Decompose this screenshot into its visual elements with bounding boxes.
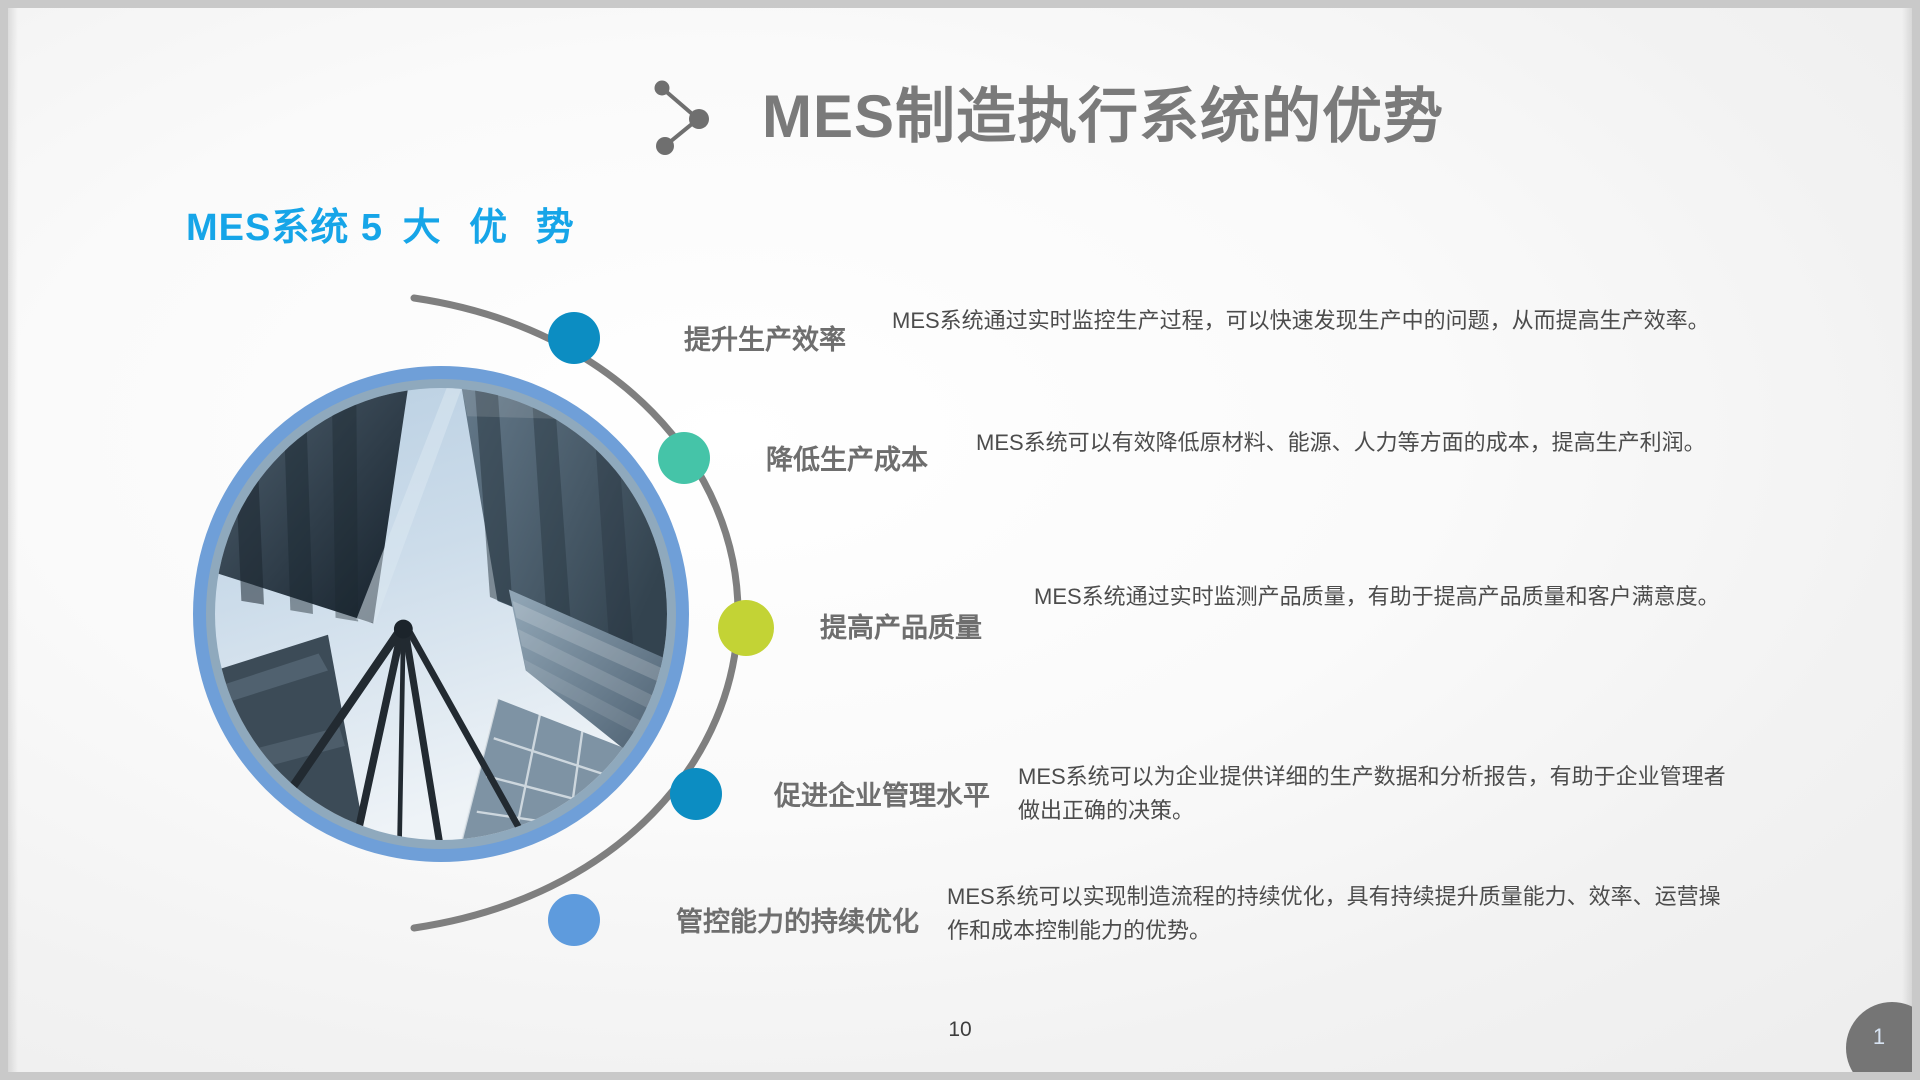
network-nodes-icon <box>648 74 720 160</box>
advantage-row[interactable]: 提高产品质量 MES系统通过实时监测产品质量，有助于提高产品质量和客户满意度。 <box>718 580 1754 656</box>
advantage-description: MES系统通过实时监测产品质量，有助于提高产品质量和客户满意度。 <box>1034 580 1754 614</box>
advantage-label: 促进企业管理水平 <box>774 774 990 813</box>
page-edge-shadow-left <box>8 8 18 1072</box>
page-title: MES制造执行系统的优势 <box>762 87 1444 147</box>
advantage-row[interactable]: 降低生产成本 MES系统可以有效降低原材料、能源、人力等方面的成本，提高生产利润… <box>658 426 1736 484</box>
advantage-description: MES系统可以为企业提供详细的生产数据和分析报告，有助于企业管理者做出正确的决策… <box>1018 760 1738 828</box>
advantage-row[interactable]: 提升生产效率 MES系统通过实时监控生产过程，可以快速发现生产中的问题，从而提高… <box>548 304 1722 364</box>
page-edge-shadow-right <box>1902 8 1912 1072</box>
advantage-dot <box>718 600 774 656</box>
advantage-dot <box>548 894 600 946</box>
advantage-label: 降低生产成本 <box>766 438 928 477</box>
advantage-description: MES系统可以实现制造流程的持续优化，具有持续提升质量能力、效率、运营操作和成本… <box>947 880 1737 948</box>
section-subtitle: MES系统 5 大 优 势 <box>186 196 583 251</box>
advantage-label: 管控能力的持续优化 <box>676 900 919 939</box>
advantage-label: 提升生产效率 <box>684 318 846 357</box>
advantage-dot <box>658 432 710 484</box>
advantage-description: MES系统可以有效降低原材料、能源、人力等方面的成本，提高生产利润。 <box>976 426 1736 460</box>
advantage-row[interactable]: 管控能力的持续优化 MES系统可以实现制造流程的持续优化，具有持续提升质量能力、… <box>548 880 1737 948</box>
subtitle-spaced: 大 优 势 <box>383 207 583 249</box>
advantage-row[interactable]: 促进企业管理水平 MES系统可以为企业提供详细的生产数据和分析报告，有助于企业管… <box>670 760 1738 828</box>
advantage-label: 提高产品质量 <box>820 606 982 645</box>
advantage-dot <box>670 768 722 820</box>
advantage-dot <box>548 312 600 364</box>
subtitle-prefix: MES系统 5 <box>186 207 383 249</box>
page-number: 10 <box>8 1018 1912 1042</box>
corner-page-badge[interactable]: 1 <box>1846 1002 1912 1072</box>
advantage-description: MES系统通过实时监控生产过程，可以快速发现生产中的问题，从而提高生产效率。 <box>892 304 1722 338</box>
slide-header: MES制造执行系统的优势 <box>648 74 1444 160</box>
slide-canvas: MES制造执行系统的优势 MES系统 5 大 优 势 <box>8 8 1912 1072</box>
connector-arc <box>408 288 768 938</box>
